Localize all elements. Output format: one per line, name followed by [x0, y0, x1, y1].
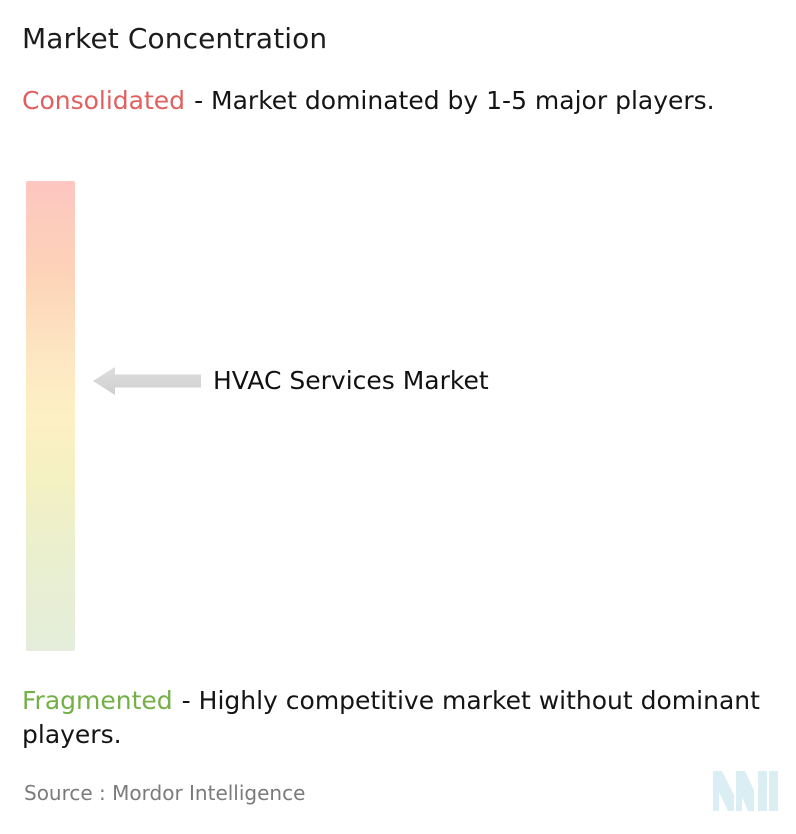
legend-term-consolidated: Consolidated: [22, 86, 185, 115]
fragmented-description: Fragmented- Highly competitive market wi…: [22, 684, 782, 752]
source-label: Source :: [24, 781, 106, 805]
source-value: Mordor Intelligence: [112, 781, 305, 805]
market-position-marker: HVAC Services Market: [93, 366, 489, 396]
source-attribution: Source : Mordor Intelligence: [24, 779, 305, 807]
market-position-label: HVAC Services Market: [213, 366, 489, 396]
consolidated-description: Consolidated- Market dominated by 1-5 ma…: [22, 84, 770, 118]
concentration-gradient-bar: [26, 181, 75, 651]
page-title: Market Concentration: [22, 18, 327, 60]
mordor-intelligence-logo: [713, 765, 779, 811]
market-concentration-infographic: Market Concentration Consolidated- Marke…: [0, 0, 796, 834]
arrow-left-icon: [93, 366, 201, 396]
consolidated-description-text: - Market dominated by 1-5 major players.: [194, 86, 715, 115]
legend-term-fragmented: Fragmented: [22, 686, 173, 715]
